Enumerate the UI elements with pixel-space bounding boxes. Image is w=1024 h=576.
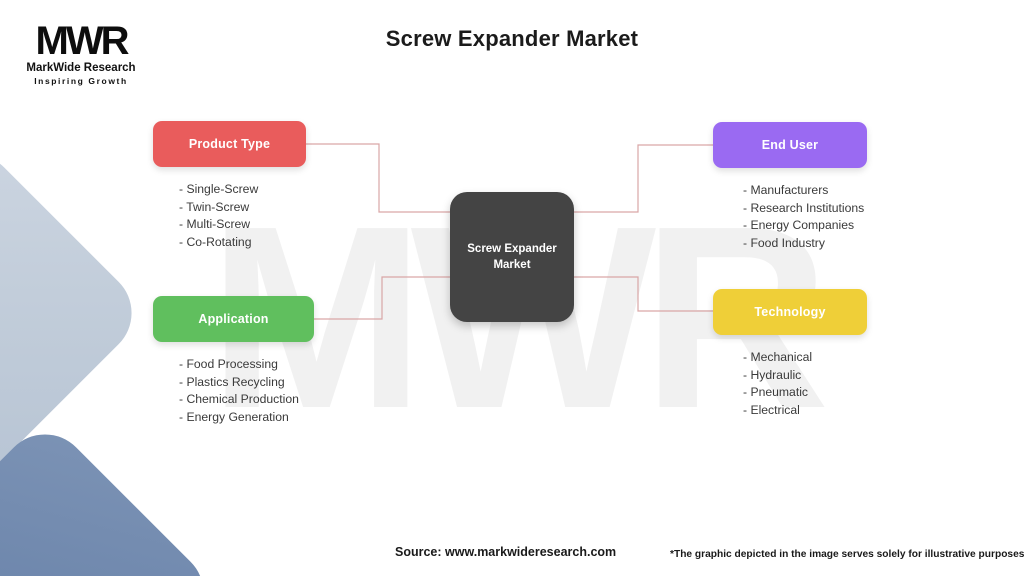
connector-product-type [306, 144, 450, 212]
footer-disclaimer: *The graphic depicted in the image serve… [670, 549, 1024, 560]
list-item: - Single-Screw [179, 181, 306, 199]
list-item: - Energy Generation [179, 409, 314, 427]
connector-end-user [574, 145, 713, 212]
list-item: - Food Industry [743, 235, 867, 253]
list-item: - Multi-Screw [179, 216, 306, 234]
list-item: - Plastics Recycling [179, 374, 314, 392]
list-item: - Hydraulic [743, 367, 867, 385]
center-node[interactable]: Screw Expander Market [450, 192, 574, 322]
footer-source[interactable]: Source: www.markwideresearch.com [395, 545, 616, 559]
branch-end-user-title: End User [762, 138, 818, 152]
branch-application-title: Application [198, 312, 268, 326]
branch-product-type-list: - Single-Screw - Twin-Screw - Multi-Scre… [153, 181, 306, 251]
branch-technology-title: Technology [754, 305, 825, 319]
list-item: - Manufacturers [743, 182, 867, 200]
branch-product-type-pill[interactable]: Product Type [153, 121, 306, 167]
connector-technology [574, 277, 713, 311]
list-item: - Mechanical [743, 349, 867, 367]
branch-end-user[interactable]: End User - Manufacturers - Research Inst… [713, 122, 867, 252]
list-item: - Chemical Production [179, 391, 314, 409]
branch-technology-list: - Mechanical - Hydraulic - Pneumatic - E… [713, 349, 867, 419]
list-item: - Pneumatic [743, 384, 867, 402]
list-item: - Co-Rotating [179, 234, 306, 252]
branch-product-type[interactable]: Product Type - Single-Screw - Twin-Screw… [153, 121, 306, 251]
branch-application[interactable]: Application - Food Processing - Plastics… [153, 296, 314, 426]
diagram-canvas: MWR MWR MarkWide Research Inspiring Grow… [0, 0, 1024, 576]
list-item: - Twin-Screw [179, 199, 306, 217]
branch-end-user-list: - Manufacturers - Research Institutions … [713, 182, 867, 252]
branch-product-type-title: Product Type [189, 137, 270, 151]
branch-application-list: - Food Processing - Plastics Recycling -… [153, 356, 314, 426]
branch-end-user-pill[interactable]: End User [713, 122, 867, 168]
branch-technology-pill[interactable]: Technology [713, 289, 867, 335]
list-item: - Food Processing [179, 356, 314, 374]
connector-application [314, 277, 450, 319]
list-item: - Electrical [743, 402, 867, 420]
list-item: - Energy Companies [743, 217, 867, 235]
branch-technology[interactable]: Technology - Mechanical - Hydraulic - Pn… [713, 289, 867, 419]
center-node-label: Screw Expander Market [466, 241, 558, 273]
branch-application-pill[interactable]: Application [153, 296, 314, 342]
list-item: - Research Institutions [743, 200, 867, 218]
